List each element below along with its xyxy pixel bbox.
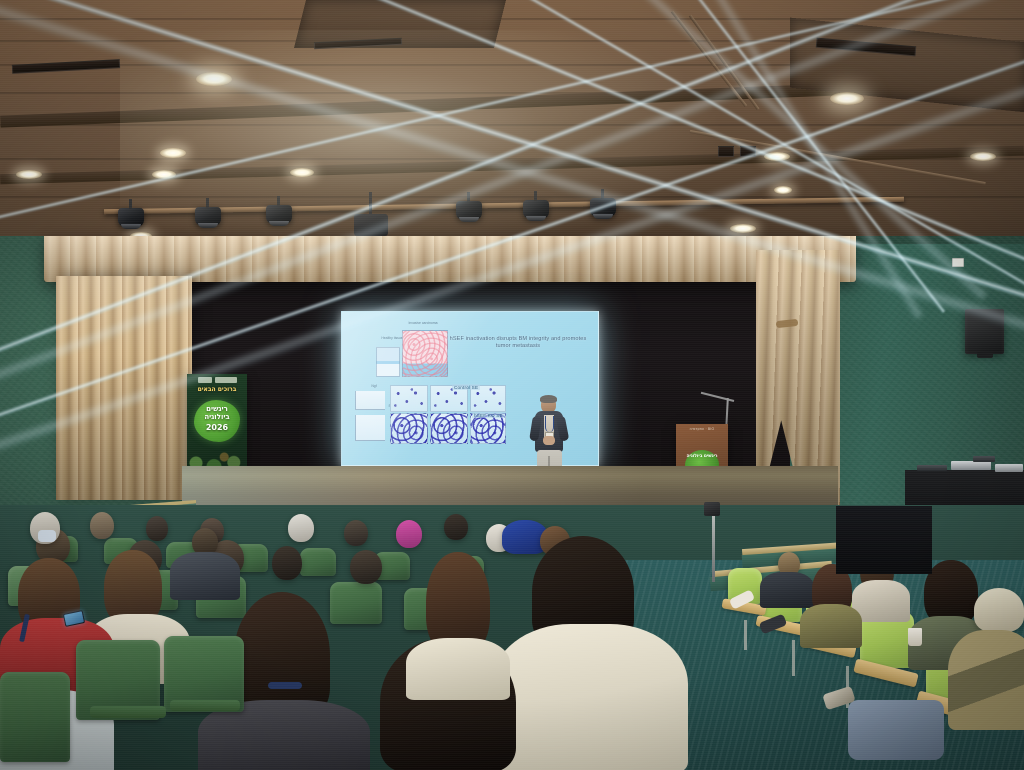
face-mask bbox=[38, 530, 56, 542]
stage-spotlight bbox=[456, 201, 482, 220]
audience-legs bbox=[848, 700, 944, 760]
ceiling-light bbox=[152, 170, 176, 179]
seat bbox=[300, 548, 336, 576]
ceiling-light bbox=[290, 168, 314, 177]
slide-graph-top bbox=[355, 391, 385, 410]
slide-tissue-panel-carcinoma bbox=[402, 330, 448, 377]
ceiling-light bbox=[774, 186, 792, 194]
audience-lanyard bbox=[268, 682, 302, 689]
presenter-hands bbox=[543, 436, 555, 445]
slide-micrograph bbox=[430, 413, 468, 444]
audience-shoulders bbox=[170, 552, 240, 600]
auditorium-photo: Healthy tissue Invasive carcinoma hSEF i… bbox=[0, 0, 1024, 770]
left-stage-curtain bbox=[56, 276, 192, 500]
side-black-drape bbox=[836, 506, 932, 574]
seat bbox=[0, 672, 70, 762]
stage-spotlight bbox=[195, 207, 221, 226]
av-laptop bbox=[973, 456, 995, 462]
speaker-rod bbox=[369, 192, 372, 216]
seat-armrest bbox=[90, 706, 166, 718]
coffee-cup bbox=[908, 628, 922, 646]
audience-head bbox=[396, 520, 422, 548]
slide-axis-label-top: Ngf bbox=[366, 384, 382, 388]
seat bbox=[330, 582, 382, 624]
house-speaker-pole bbox=[712, 512, 715, 582]
house-speaker-box bbox=[704, 502, 720, 516]
audience-head bbox=[90, 512, 114, 539]
av-mixer bbox=[951, 461, 991, 470]
podium-header-text: האקדמיה · BIO bbox=[676, 427, 728, 431]
audience-head bbox=[272, 546, 302, 580]
ceiling-vent bbox=[740, 146, 756, 157]
seat-armrest bbox=[170, 700, 240, 711]
podium-main-text: ריגשים ביולוגיה bbox=[685, 454, 719, 459]
stage-spotlight bbox=[590, 198, 616, 217]
wooden-ceiling bbox=[0, 0, 1024, 262]
ceiling-light bbox=[730, 224, 756, 233]
conference-rollup-banner: ברוכים הבאים ריגשים ביולוגיה 2026 bbox=[187, 374, 247, 478]
audience-shoulders bbox=[948, 630, 1024, 730]
stage-spotlight bbox=[523, 200, 549, 219]
banner-year-text: 2026 bbox=[194, 423, 240, 432]
slide-title: hSEF inactivation disrupts BM integrity … bbox=[448, 336, 588, 351]
audience-head bbox=[344, 520, 368, 546]
seat-leg bbox=[744, 620, 747, 650]
ceiling-light bbox=[764, 152, 790, 161]
audience-head bbox=[444, 514, 468, 540]
ceiling-light bbox=[830, 92, 864, 105]
audience-shoulders bbox=[800, 604, 862, 648]
slide-panel-tag-knockout: hSEF KO SE bbox=[472, 412, 505, 418]
banner-welcome-text: ברוכים הבאים bbox=[187, 386, 247, 393]
slide-label-invasive-carcinoma: Invasive carcinoma bbox=[404, 321, 442, 325]
ceiling-vent bbox=[718, 146, 734, 157]
audience-head bbox=[288, 514, 314, 542]
ceiling-light bbox=[970, 152, 996, 161]
banner-main-text: ריגשים ביולוגיה bbox=[194, 405, 240, 421]
banner-foliage-graphic bbox=[187, 439, 247, 469]
av-device bbox=[917, 465, 947, 471]
ceiling-light bbox=[196, 72, 232, 86]
presenter-hair bbox=[540, 395, 557, 403]
hanging-stage-speaker bbox=[354, 214, 388, 236]
seat-leg bbox=[792, 640, 795, 676]
banner-logo-icon bbox=[215, 377, 237, 383]
ceiling-vent bbox=[12, 59, 120, 74]
slide-graph-bottom bbox=[355, 415, 385, 441]
audience-head bbox=[146, 516, 168, 541]
banner-logo-icon bbox=[198, 377, 212, 383]
speaker-bracket bbox=[977, 352, 993, 358]
stage-spotlight bbox=[118, 208, 144, 227]
wall-mounted-speaker bbox=[965, 309, 1004, 354]
audience-shoulders bbox=[492, 624, 688, 770]
slide-tissue-panel-healthy bbox=[376, 347, 400, 377]
ceiling-light bbox=[160, 148, 186, 158]
audience-shoulders bbox=[760, 572, 814, 608]
slide-micrograph bbox=[390, 413, 428, 444]
audience-head-hat bbox=[974, 588, 1024, 632]
ceiling-light bbox=[16, 170, 42, 179]
audience-shoulders bbox=[406, 638, 510, 700]
slide-panel-tag-control: Control SE bbox=[452, 384, 480, 390]
audience-head bbox=[350, 550, 382, 584]
presenter-lanyard bbox=[545, 416, 554, 432]
stage-spotlight bbox=[266, 205, 292, 224]
slide-micrograph bbox=[390, 385, 428, 412]
wall-socket bbox=[952, 258, 964, 267]
av-device bbox=[995, 464, 1023, 472]
